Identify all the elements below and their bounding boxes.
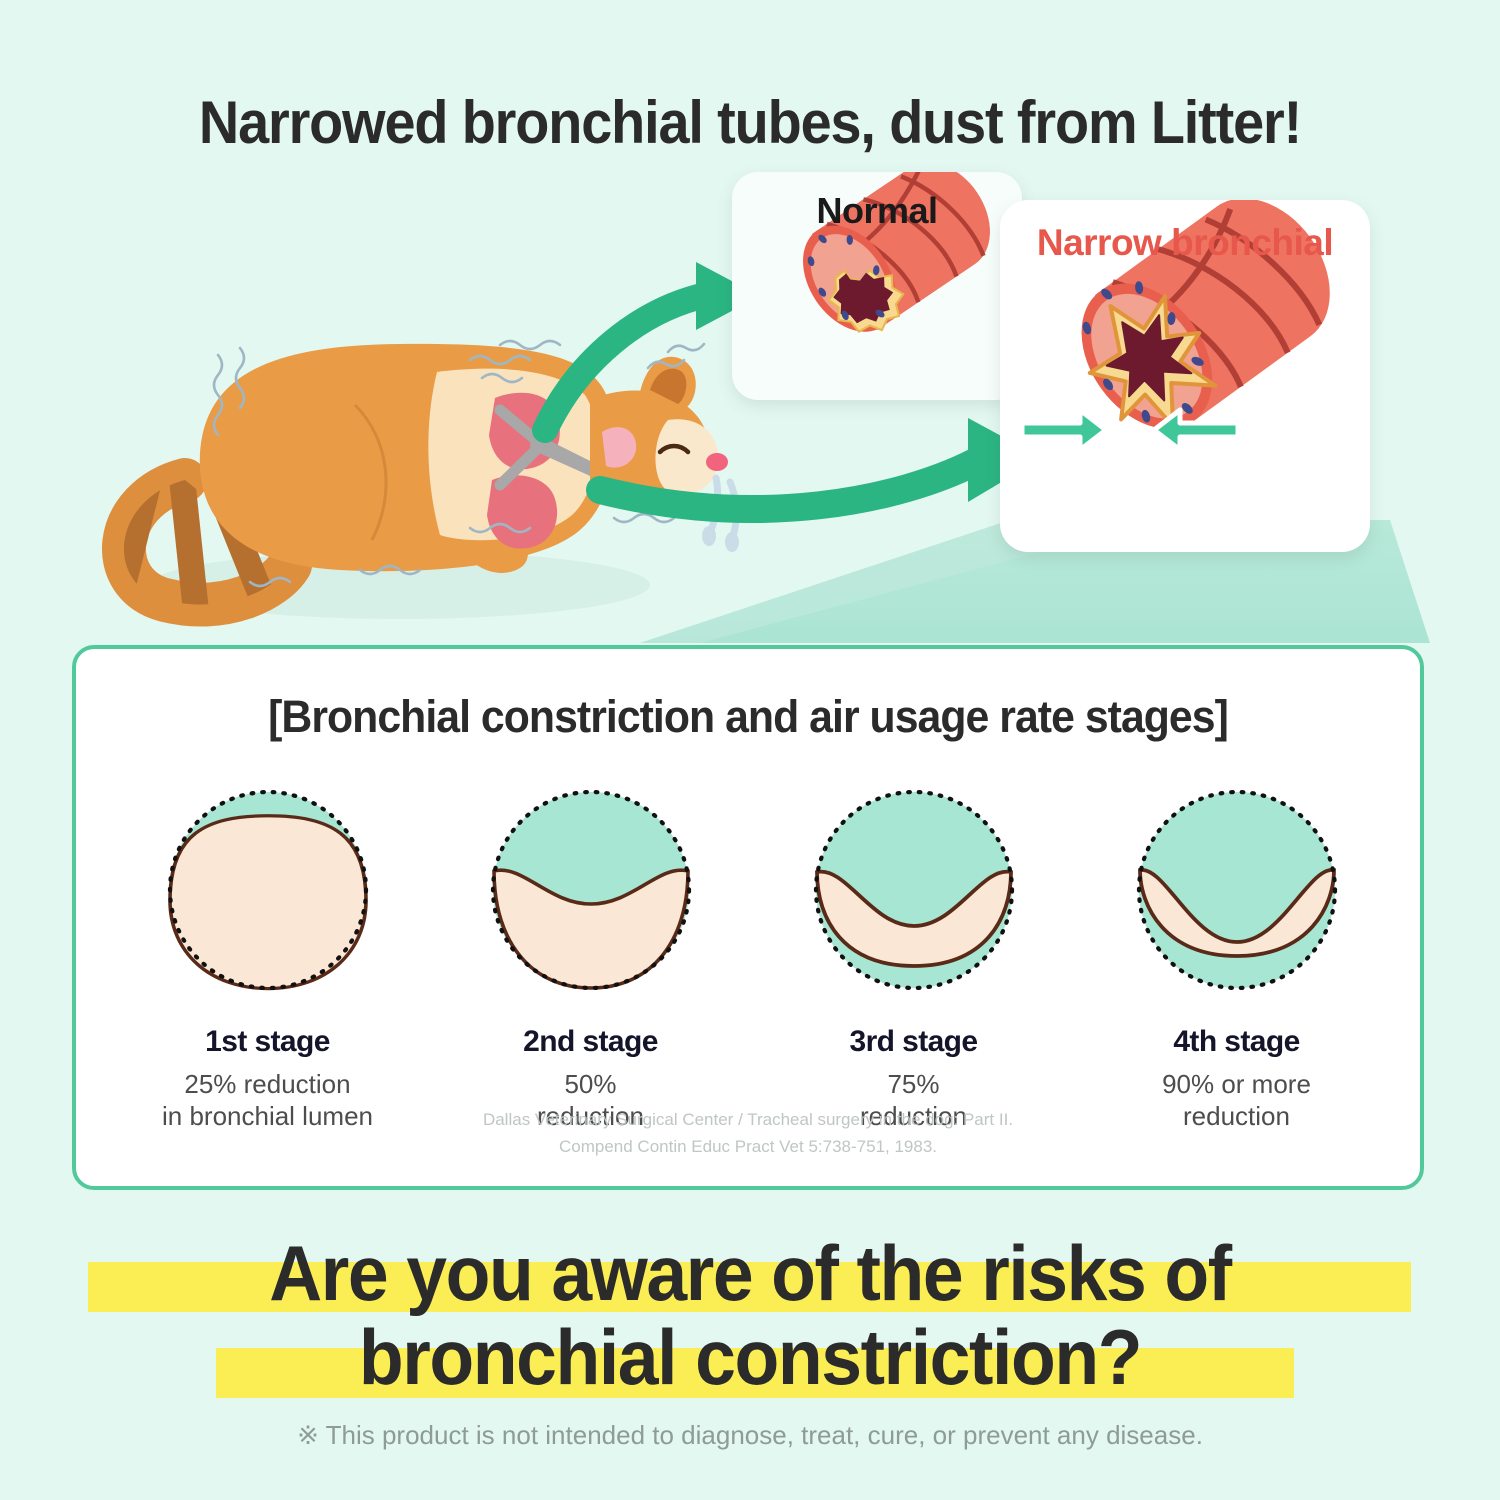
stage-diagram-1: [152, 774, 384, 1006]
stage-name-4: 4th stage: [1087, 1025, 1387, 1059]
stage-name-1: 1st stage: [118, 1025, 418, 1059]
inset-card-narrow: Narrow bronchial: [1000, 200, 1370, 552]
stage-desc-1-line1: 25% reduction: [118, 1069, 418, 1101]
citation-line1: Dallas Veterinary Surgical Center / Trac…: [76, 1107, 1420, 1133]
stage-diagram-3: [798, 774, 1030, 1006]
footer-question-line1: Are you aware of the risks of: [45, 1228, 1455, 1319]
footer-question-line2: bronchial constriction?: [45, 1312, 1455, 1403]
stage-name-3: 3rd stage: [764, 1025, 1064, 1059]
inset-label-narrow: Narrow bronchial: [1000, 222, 1370, 264]
inset-label-normal: Normal: [732, 190, 1022, 232]
page-title: Narrowed bronchial tubes, dust from Litt…: [53, 88, 1448, 157]
stage-item-4: 4th stage 90% or more reduction: [1087, 774, 1387, 1132]
stage-item-1: 1st stage 25% reduction in bronchial lum…: [118, 774, 418, 1132]
panel-title: [Bronchial constriction and air usage ra…: [110, 691, 1387, 743]
footer-disclaimer: ※ This product is not intended to diagno…: [0, 1420, 1500, 1451]
stage-name-2: 2nd stage: [441, 1025, 741, 1059]
stage-desc-2-line1: 50%: [441, 1069, 741, 1101]
stage-desc-4-line1: 90% or more: [1087, 1069, 1387, 1101]
stage-desc-3-line1: 75%: [764, 1069, 1064, 1101]
stage-diagram-2: [475, 774, 707, 1006]
stage-item-2: 2nd stage 50% reduction: [441, 774, 741, 1132]
stage-diagram-4: [1121, 774, 1353, 1006]
citation-line2: Compend Contin Educ Pract Vet 5:738-751,…: [76, 1134, 1420, 1160]
inset-card-normal: Normal: [732, 172, 1022, 400]
stages-panel: [Bronchial constriction and air usage ra…: [72, 645, 1424, 1190]
stage-item-3: 3rd stage 75% reduction: [764, 774, 1064, 1132]
stages-row: 1st stage 25% reduction in bronchial lum…: [106, 774, 1398, 1132]
citation: Dallas Veterinary Surgical Center / Trac…: [76, 1107, 1420, 1160]
